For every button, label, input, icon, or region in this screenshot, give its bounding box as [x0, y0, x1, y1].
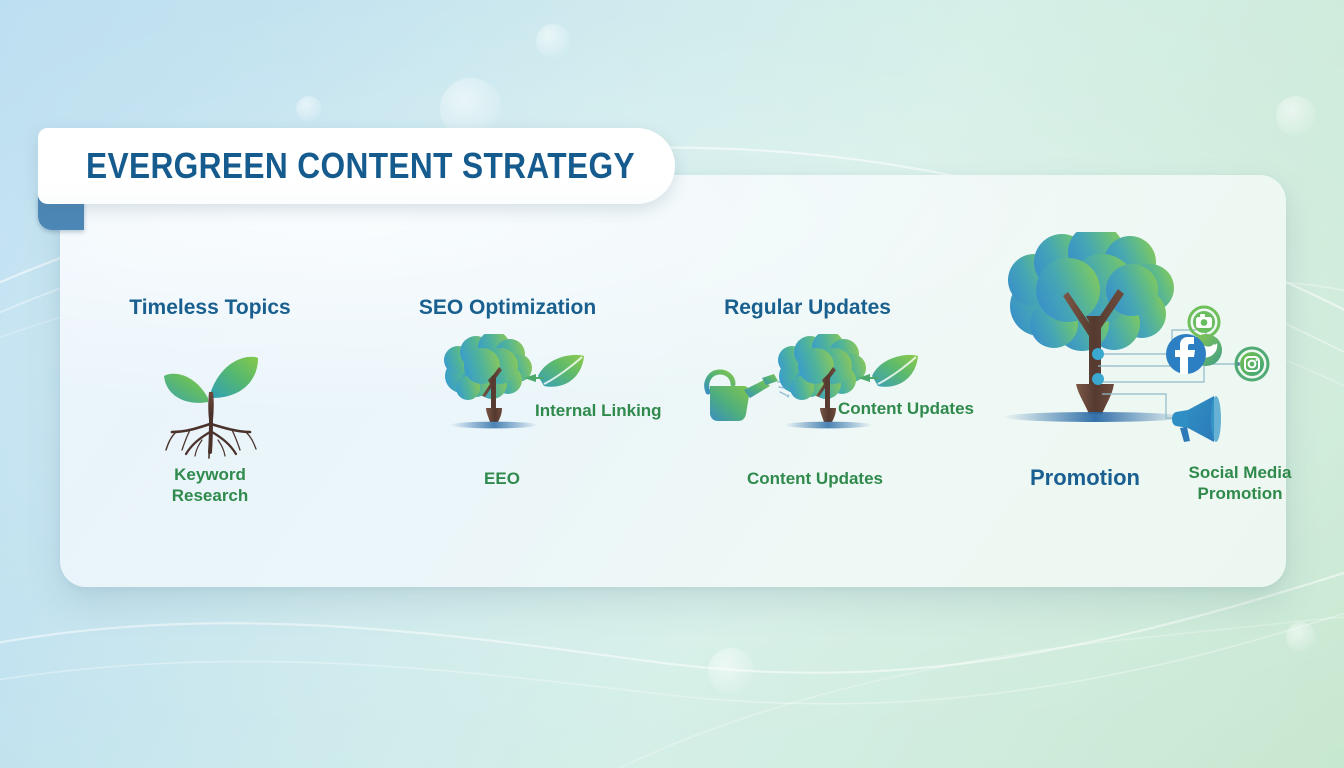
instagram-icon: [1236, 348, 1268, 380]
column-heading: Timeless Topics: [100, 296, 320, 320]
keyword-research-label: Keyword Research: [100, 464, 320, 507]
column-heading: SEO Optimization: [390, 296, 625, 320]
eeo-label: EEO: [442, 468, 562, 489]
camera-icon: [1189, 307, 1219, 337]
tree-with-leaf-icon: [432, 334, 592, 446]
column-heading: Regular Updates: [690, 296, 925, 320]
sprout-with-roots-icon: [146, 348, 274, 460]
infographic-canvas: EVERGREEN CONTENT STRATEGY Timeless Topi…: [0, 0, 1344, 768]
promotion-label: Promotion: [990, 464, 1180, 492]
column-timeless-topics: Timeless Topics: [100, 0, 320, 768]
facebook-icon: [1166, 334, 1206, 374]
column-seo-optimization: SEO Optimization: [390, 0, 625, 768]
megaphone-icon: [1172, 396, 1221, 442]
social-media-line2: Promotion: [1198, 484, 1283, 503]
column-promotion: Promotion Social Media Promotion: [990, 0, 1290, 768]
social-media-promotion-label: Social Media Promotion: [1160, 462, 1320, 505]
watering-can-tree-leaf-icon: [700, 334, 930, 446]
big-tree-social-network-icon: [990, 232, 1290, 460]
social-media-line1: Social Media: [1189, 463, 1292, 482]
content-updates-bottom-label: Content Updates: [700, 468, 930, 489]
keyword-research-line1: Keyword: [174, 465, 246, 484]
column-regular-updates: Regular Updates: [690, 0, 925, 768]
keyword-research-line2: Research: [172, 486, 249, 505]
